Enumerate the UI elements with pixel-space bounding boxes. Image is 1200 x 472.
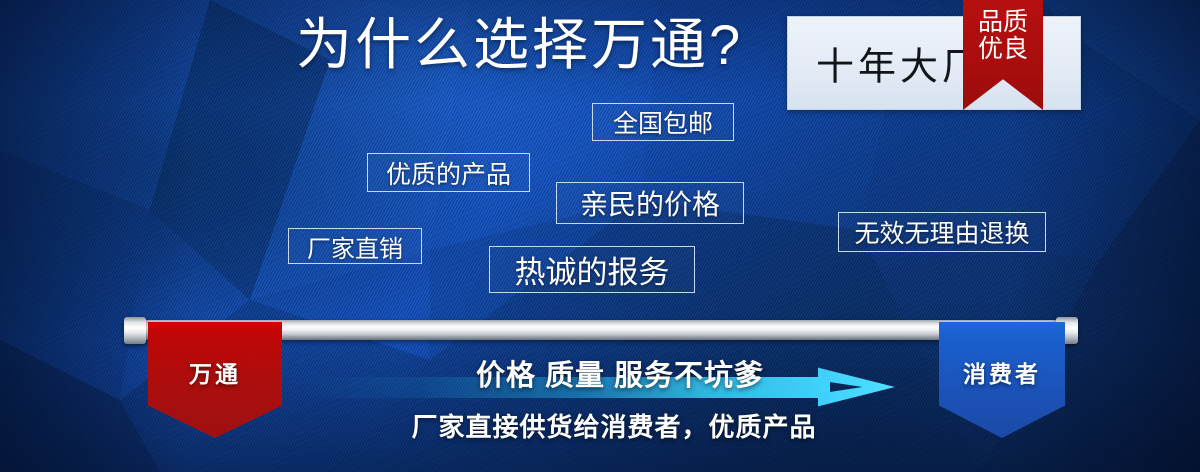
badge-label: 十年大厂 <box>816 36 984 91</box>
feature-tag: 厂家直销 <box>288 228 422 264</box>
feature-tag: 全国包邮 <box>592 103 734 141</box>
feature-tag: 亲民的价格 <box>556 182 744 224</box>
page-title: 为什么选择万通? <box>296 14 743 76</box>
feature-tag: 无效无理由退换 <box>838 212 1046 252</box>
rod-cap-left-icon <box>124 317 146 344</box>
ribbon-line-1: 品质 <box>963 9 1043 36</box>
slogan-secondary: 厂家直接供货给消费者，优质产品 <box>14 407 1200 444</box>
feature-tag: 热诚的报务 <box>489 246 695 293</box>
feature-tag: 优质的产品 <box>367 153 530 192</box>
ribbon-line-2: 优良 <box>963 36 1043 63</box>
slogan-primary: 价格 质量 服务不坑爹 <box>20 352 1200 394</box>
promo-banner: 为什么选择万通? 十年大厂 品质 优良 全国包邮优质的产品亲民的价格无效无理由退… <box>0 0 1200 472</box>
